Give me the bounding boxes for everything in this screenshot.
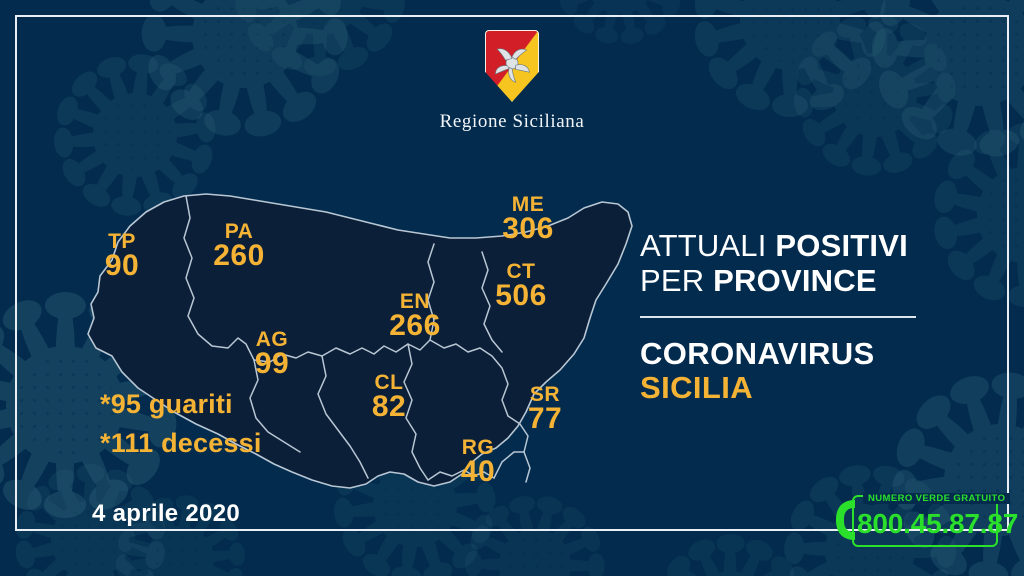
- header-crest-block: Regione Siciliana: [0, 30, 1024, 133]
- province-value: 266: [375, 312, 455, 341]
- virus-spike: [724, 540, 737, 576]
- province-value: 506: [481, 282, 561, 311]
- headline-text: ATTUALI POSITIVI PER PROVINCE: [640, 228, 940, 299]
- headline-word-province: PROVINCE: [713, 263, 877, 298]
- province-value: 90: [82, 252, 162, 281]
- summary-stats: *95 guariti *111 decessi: [100, 385, 262, 463]
- headline-word-positivi: POSITIVI: [775, 228, 908, 263]
- headline-word-per: PER: [640, 263, 704, 298]
- province-value: 306: [488, 215, 568, 244]
- province-value: 40: [438, 458, 518, 487]
- province-label-cl: CL82: [349, 373, 429, 422]
- headline-line-2: PER PROVINCE: [640, 263, 940, 298]
- recovered-count: *95 guariti: [100, 385, 262, 424]
- province-label-rg: RG40: [438, 438, 518, 487]
- phone-badge-label: NUMERO VERDE GRATUITO: [863, 493, 1010, 504]
- province-label-pa: PA260: [199, 222, 279, 271]
- province-label-ct: CT506: [481, 262, 561, 311]
- report-date: 4 aprile 2020: [92, 500, 240, 528]
- deaths-count: *111 decessi: [100, 424, 262, 463]
- province-label-en: EN266: [375, 292, 455, 341]
- headline-panel: ATTUALI POSITIVI PER PROVINCE CORONAVIRU…: [640, 228, 940, 406]
- phone-number: 800.45.87.87: [857, 508, 1018, 540]
- province-value: 260: [199, 242, 279, 271]
- province-label-ag: AG99: [232, 330, 312, 379]
- province-value: 99: [232, 350, 312, 379]
- panel-divider: [640, 316, 916, 318]
- triskelion-icon: [489, 40, 535, 86]
- institution-name: Regione Siciliana: [0, 111, 1024, 133]
- province-label-sr: SR77: [505, 385, 585, 434]
- sicilian-region-coat-of-arms-icon: [485, 30, 539, 102]
- province-label-tp: TP90: [82, 232, 162, 281]
- province-value: 77: [505, 405, 585, 434]
- headline-line-1: ATTUALI POSITIVI: [640, 228, 940, 263]
- toll-free-phone-badge[interactable]: NUMERO VERDE GRATUITO 800.45.87.87: [833, 495, 998, 547]
- virus-particle-icon: [470, 500, 600, 576]
- coronavirus-sicilia-infographic: Regione Siciliana: [0, 0, 1024, 576]
- province-label-me: ME306: [488, 195, 568, 244]
- brand-sicilia: SICILIA: [640, 371, 940, 406]
- province-value: 82: [349, 393, 429, 422]
- virus-particle-icon: [940, 130, 1024, 300]
- virus-particle-icon: [660, 540, 800, 576]
- headline-word-attuali: ATTUALI: [640, 228, 767, 263]
- brand-coronavirus: CORONAVIRUS: [640, 337, 940, 372]
